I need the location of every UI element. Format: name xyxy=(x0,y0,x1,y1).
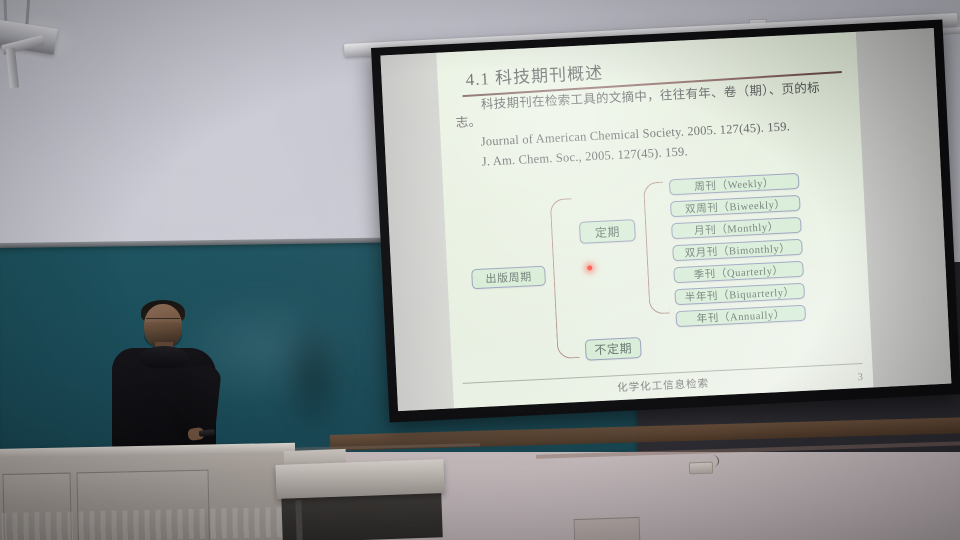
diagram-node-regular: 定期 xyxy=(579,219,636,244)
jacket-collar xyxy=(140,346,188,368)
diagram-brace-main xyxy=(550,198,580,359)
lecturer-shadow xyxy=(278,310,348,440)
cabinet-vents xyxy=(1,507,290,540)
slide-page-number: 3 xyxy=(857,372,863,383)
diagram-leaf-weekly: 周刊（Weekly） xyxy=(669,173,800,195)
diagram-leaf-quarterly: 季刊（Quarterly） xyxy=(673,261,804,283)
diagram-node-root: 出版周期 xyxy=(471,266,546,290)
glasses-icon xyxy=(146,318,180,325)
podium-cabinet xyxy=(0,446,296,540)
wall-panel xyxy=(573,517,640,540)
laser-pointer-dot xyxy=(587,265,592,270)
screen-canvas: 4.1 科技期刊概述 科技期刊在检索工具的文摘中，往往有年、卷（期）、页的标志。… xyxy=(380,28,951,411)
publication-cycle-diagram: 出版周期 定期 不定期 周刊（Weekly） 双周刊（Biweekly） 月刊（… xyxy=(461,170,864,373)
lectern-desk xyxy=(275,459,444,499)
lecturer xyxy=(108,300,238,450)
diagram-node-irregular: 不定期 xyxy=(585,337,642,361)
diagram-brace-sub xyxy=(643,182,670,315)
diagram-leaf-monthly: 月刊（Monthly） xyxy=(671,217,802,239)
presentation-slide: 4.1 科技期刊概述 科技期刊在检索工具的文摘中，往往有年、卷（期）、页的标志。… xyxy=(436,32,873,408)
classroom-scene: 4.1 科技期刊概述 科技期刊在检索工具的文摘中，往往有年、卷（期）、页的标志。… xyxy=(0,0,960,540)
diagram-leaf-annually: 年刊（Annually） xyxy=(675,305,806,327)
diagram-leaf-biweekly: 双周刊（Biweekly） xyxy=(670,195,801,217)
projection-screen: 4.1 科技期刊概述 科技期刊在检索工具的文摘中，往往有年、卷（期）、页的标志。… xyxy=(371,20,960,423)
diagram-leaf-bimonthly: 双月刊（Bimonthly） xyxy=(672,239,803,261)
diagram-leaf-biquarterly: 半年刊（Biquarterly） xyxy=(674,283,805,305)
